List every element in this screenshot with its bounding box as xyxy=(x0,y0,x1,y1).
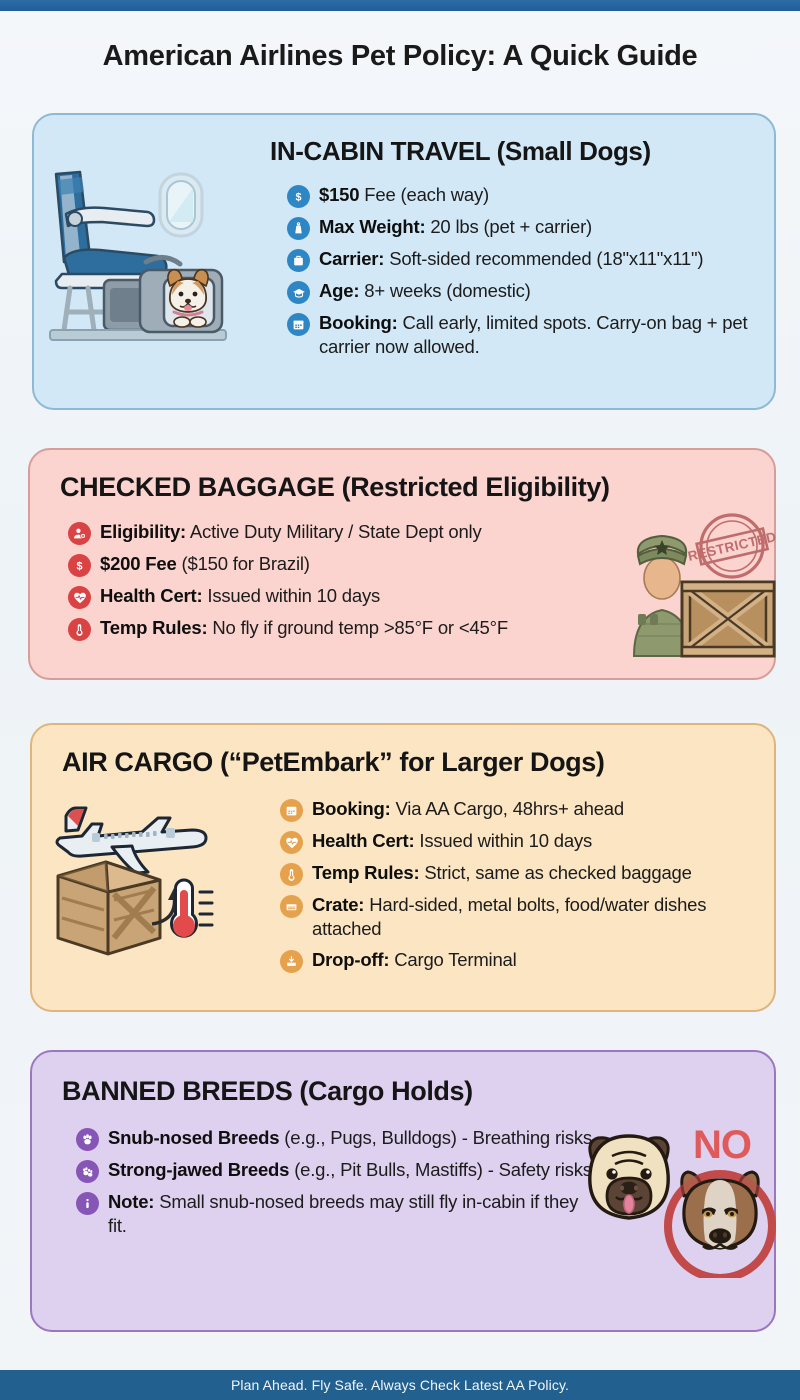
list-item-text: Eligibility: Active Duty Military / Stat… xyxy=(100,520,482,544)
calendar-icon xyxy=(280,799,303,822)
list-item-text: Health Cert: Issued within 10 days xyxy=(312,829,592,853)
person-badge-icon xyxy=(68,522,91,545)
list-item-label: Note: xyxy=(108,1191,154,1212)
list-item-body: Issued within 10 days xyxy=(414,830,592,851)
list-item: Carrier: Soft-sided recommended (18"x11"… xyxy=(287,247,773,272)
list-item-label: Max Weight: xyxy=(319,216,425,237)
list-item-body: Cargo Terminal xyxy=(389,949,516,970)
list-item-body: No fly if ground temp >85°F or <45°F xyxy=(207,617,507,638)
crate-icon xyxy=(280,895,303,918)
footer-bar: Plan Ahead. Fly Safe. Always Check Lates… xyxy=(0,1370,800,1400)
list-item-text: Temp Rules: No fly if ground temp >85°F … xyxy=(100,616,508,640)
list-item: Health Cert: Issued within 10 days xyxy=(68,584,668,609)
list-item-label: Eligibility: xyxy=(100,521,186,542)
list-item-body: 20 lbs (pet + carrier) xyxy=(425,216,592,237)
list-item: Age: 8+ weeks (domestic) xyxy=(287,279,773,304)
list-item: Max Weight: 20 lbs (pet + carrier) xyxy=(287,215,773,240)
list-item-label: $150 xyxy=(319,184,359,205)
card-title-in-cabin: IN-CABIN TRAVEL (Small Dogs) xyxy=(270,137,766,166)
page-title: American Airlines Pet Policy: A Quick Gu… xyxy=(0,40,800,73)
list-item-text: Booking: Via AA Cargo, 48hrs+ ahead xyxy=(312,797,624,821)
paws-icon xyxy=(76,1160,99,1183)
list-item: Strong-jawed Breeds (e.g., Pit Bulls, Ma… xyxy=(76,1158,596,1183)
list-item-label: Booking: xyxy=(312,798,391,819)
footer-text: Plan Ahead. Fly Safe. Always Check Lates… xyxy=(231,1377,569,1393)
list-item: Snub-nosed Breeds (e.g., Pugs, Bulldogs)… xyxy=(76,1126,596,1151)
heart-pulse-icon xyxy=(280,831,303,854)
calendar-icon xyxy=(287,313,310,336)
list-item: Temp Rules: No fly if ground temp >85°F … xyxy=(68,616,668,641)
card-title-banned-breeds: BANNED BREEDS (Cargo Holds) xyxy=(62,1076,762,1106)
list-item: Drop-off: Cargo Terminal xyxy=(280,948,776,973)
list-item-body: Small snub-nosed breeds may still fly in… xyxy=(108,1191,578,1236)
list-item-text: Drop-off: Cargo Terminal xyxy=(312,948,517,972)
list-item-body: Soft-sided recommended (18"x11"x11") xyxy=(384,248,703,269)
card-title-air-cargo: AIR CARGO (“PetEmbark” for Larger Dogs) xyxy=(62,747,762,777)
list-item-body: Via AA Cargo, 48hrs+ ahead xyxy=(391,798,624,819)
info-icon xyxy=(76,1192,99,1215)
briefcase-icon xyxy=(287,249,310,272)
svg-text:$: $ xyxy=(295,191,301,203)
pug-and-pitbull-with-no-sign-illustration: NO xyxy=(572,1118,782,1278)
paw-icon xyxy=(76,1128,99,1151)
list-item: Crate: Hard-sided, metal bolts, food/wat… xyxy=(280,893,776,941)
heart-pulse-icon xyxy=(68,586,91,609)
bullet-list-air-cargo: Booking: Via AA Cargo, 48hrs+ ahead Heal… xyxy=(280,797,776,980)
list-item-text: Health Cert: Issued within 10 days xyxy=(100,584,380,608)
list-item-text: Note: Small snub-nosed breeds may still … xyxy=(108,1190,596,1238)
list-item-body: (e.g., Pit Bulls, Mastiffs) - Safety ris… xyxy=(289,1159,592,1180)
list-item-label: Carrier: xyxy=(319,248,384,269)
bullet-list-in-cabin: $ $150 Fee (each way) Max Weight: 20 lbs… xyxy=(287,183,773,366)
list-item: Eligibility: Active Duty Military / Stat… xyxy=(68,520,668,545)
list-item-body: (e.g., Pugs, Bulldogs) - Breathing risks xyxy=(279,1127,592,1148)
thermometer-icon xyxy=(280,863,303,886)
list-item-label: Drop-off: xyxy=(312,949,389,970)
list-item-label: $200 Fee xyxy=(100,553,177,574)
list-item-body: Strict, same as checked baggage xyxy=(419,862,691,883)
list-item-text: Temp Rules: Strict, same as checked bagg… xyxy=(312,861,692,885)
list-item: Temp Rules: Strict, same as checked bagg… xyxy=(280,861,776,886)
list-item-label: Age: xyxy=(319,280,359,301)
dropoff-icon xyxy=(280,950,303,973)
list-item-label: Crate: xyxy=(312,894,364,915)
weight-scale-icon xyxy=(287,217,310,240)
graduation-cap-icon xyxy=(287,281,310,304)
airplane-seat-with-dog-in-carrier-illustration xyxy=(42,162,242,352)
list-item-text: Carrier: Soft-sided recommended (18"x11"… xyxy=(319,247,703,271)
dollar-circle-icon: $ xyxy=(287,185,310,208)
list-item-body: Issued within 10 days xyxy=(202,585,380,606)
list-item-body: Hard-sided, metal bolts, food/water dish… xyxy=(312,894,706,939)
list-item-label: Strong-jawed Breeds xyxy=(108,1159,289,1180)
list-item-label: Booking: xyxy=(319,312,398,333)
top-accent-bar xyxy=(0,0,800,11)
list-item-text: Max Weight: 20 lbs (pet + carrier) xyxy=(319,215,592,239)
list-item-label: Health Cert: xyxy=(312,830,414,851)
svg-text:$: $ xyxy=(76,560,82,572)
infographic-page: American Airlines Pet Policy: A Quick Gu… xyxy=(0,0,800,1400)
list-item: $ $150 Fee (each way) xyxy=(287,183,773,208)
list-item-text: Crate: Hard-sided, metal bolts, food/wat… xyxy=(312,893,776,941)
thermometer-icon xyxy=(68,618,91,641)
list-item-label: Snub-nosed Breeds xyxy=(108,1127,279,1148)
list-item: Health Cert: Issued within 10 days xyxy=(280,829,776,854)
list-item: Note: Small snub-nosed breeds may still … xyxy=(76,1190,596,1238)
bullet-list-checked-baggage: Eligibility: Active Duty Military / Stat… xyxy=(68,520,668,648)
list-item-label: Temp Rules: xyxy=(100,617,207,638)
list-item-label: Health Cert: xyxy=(100,585,202,606)
bullet-list-banned-breeds: Snub-nosed Breeds (e.g., Pugs, Bulldogs)… xyxy=(76,1126,596,1245)
list-item-body: Active Duty Military / State Dept only xyxy=(186,521,482,542)
list-item-text: Age: 8+ weeks (domestic) xyxy=(319,279,531,303)
list-item-label: Temp Rules: xyxy=(312,862,419,883)
list-item-text: Snub-nosed Breeds (e.g., Pugs, Bulldogs)… xyxy=(108,1126,592,1150)
list-item: Booking: Call early, limited spots. Carr… xyxy=(287,311,773,359)
list-item-text: $200 Fee ($150 for Brazil) xyxy=(100,552,310,576)
svg-text:RESTRICTED: RESTRICTED xyxy=(686,529,777,564)
card-title-checked-baggage: CHECKED BAGGAGE (Restricted Eligibility) xyxy=(60,472,760,502)
list-item-body: ($150 for Brazil) xyxy=(177,553,310,574)
list-item-body: Fee (each way) xyxy=(359,184,489,205)
list-item-text: $150 Fee (each way) xyxy=(319,183,489,207)
dollar-circle-icon: $ xyxy=(68,554,91,577)
list-item-text: Strong-jawed Breeds (e.g., Pit Bulls, Ma… xyxy=(108,1158,592,1182)
list-item: Booking: Via AA Cargo, 48hrs+ ahead xyxy=(280,797,776,822)
list-item: $ $200 Fee ($150 for Brazil) xyxy=(68,552,668,577)
svg-text:NO: NO xyxy=(693,1123,751,1167)
airplane-over-crate-with-thermometer-illustration xyxy=(48,788,228,960)
list-item-text: Booking: Call early, limited spots. Carr… xyxy=(319,311,773,359)
soldier-with-crate-and-restricted-stamp-illustration: RESTRICTED xyxy=(624,506,784,658)
list-item-body: 8+ weeks (domestic) xyxy=(359,280,530,301)
